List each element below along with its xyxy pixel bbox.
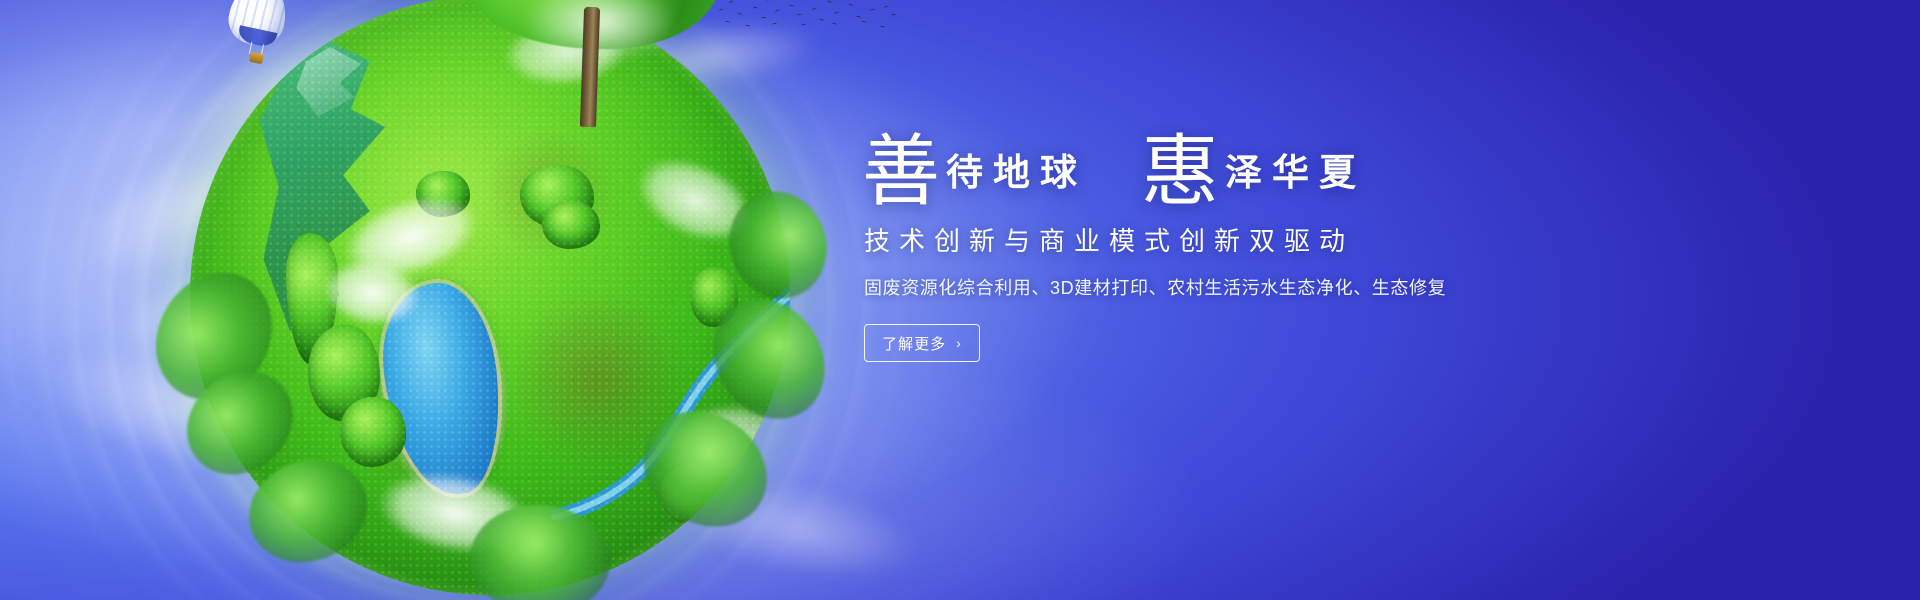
bird-icon [775,9,781,14]
tree-crown [470,0,720,49]
rim-tree [235,443,382,578]
lake-shore [360,264,526,518]
balloon-band [237,25,277,49]
bird-icon [848,3,854,7]
bird-icon [797,14,802,18]
bird-flock-icon [715,0,895,43]
bird-icon [870,9,876,13]
bird-icon [772,23,777,27]
headline-char-1: 善 [862,136,940,209]
rim-tree [466,500,613,600]
bird-icon [761,17,766,20]
rim-tree [621,388,789,550]
bird-icon [827,0,833,4]
bird-icon [819,19,824,23]
tree-clump [690,267,738,327]
bird-icon [891,14,896,17]
tree-clump [340,397,406,467]
learn-more-label: 了解更多 [882,333,946,354]
rim-tree [716,179,841,311]
bird-icon [737,12,743,16]
bird-icon [856,16,861,20]
cloud [353,449,557,577]
cloud-wisp [555,0,865,122]
cloud-wisp [0,287,432,533]
bird-icon [789,5,794,9]
hero-banner: 善 待地球 惠 泽华夏 技术创新与商业模式创新双驱动 固废资源化综合利用、3D建… [0,0,1920,600]
bird-icon [832,22,838,26]
bird-icon [880,26,885,30]
cloud-wisp [632,443,968,600]
cloud-wisp [0,47,443,343]
globe-icon [190,0,790,595]
bird-icon [767,0,773,3]
mist [500,0,700,77]
tree-clump [286,233,338,365]
learn-more-button[interactable]: 了解更多 › [864,324,980,362]
cloud [608,128,782,271]
hero-subtitle: 技术创新与商业模式创新双驱动 [864,221,1562,258]
chevron-right-icon: › [956,336,962,350]
bird-icon [719,8,725,12]
tree-clump [416,171,470,217]
headline-rest-1: 待地球 [940,154,1087,191]
bird-icon [745,25,750,29]
hero-description: 固废资源化综合利用、3D建材打印、农村生活污水生态净化、生态修复 [864,274,1562,300]
cloud [316,167,506,307]
bird-icon [753,6,759,10]
hero-tree-icon [470,0,720,119]
tree-clump [308,325,380,421]
rim-tree [133,251,294,420]
bird-icon [863,0,868,1]
lake [375,278,509,501]
bird-icon [861,21,866,25]
cloud-swirl [0,0,940,600]
headline-rest-2: 泽华夏 [1219,154,1366,191]
bird-icon [729,0,735,5]
cloud-wisp [52,218,447,402]
rim-tree [691,278,848,441]
tree-clump [520,165,594,227]
cloud [487,8,642,98]
snow-cap [282,47,402,167]
bird-icon [801,24,806,27]
headline-char-2: 惠 [1141,136,1219,209]
tree-clump [542,201,600,249]
rim-tree [166,350,314,496]
mountain-ridge [252,37,442,337]
cloud-wisp [139,381,581,600]
bird-icon [834,12,839,15]
balloon-basket [249,52,264,64]
bird-icon [884,5,890,10]
hot-air-balloon-icon [230,0,290,73]
balloon-envelope [224,0,292,50]
page-title: 善 待地球 惠 泽华夏 [862,132,1562,205]
cloud [634,381,790,504]
tree-clump [660,463,730,525]
bird-icon [812,7,818,12]
hero-copy: 善 待地球 惠 泽华夏 技术创新与商业模式创新双驱动 固废资源化综合利用、3D建… [862,132,1562,362]
river [490,265,790,535]
balloon-ropes [249,42,264,56]
tiny-planet-illustration [140,0,840,600]
tree-trunk [580,7,600,127]
tree-clump [490,515,570,575]
bird-icon [725,21,730,25]
cloud [307,245,437,341]
cloud-wisp [117,0,452,223]
